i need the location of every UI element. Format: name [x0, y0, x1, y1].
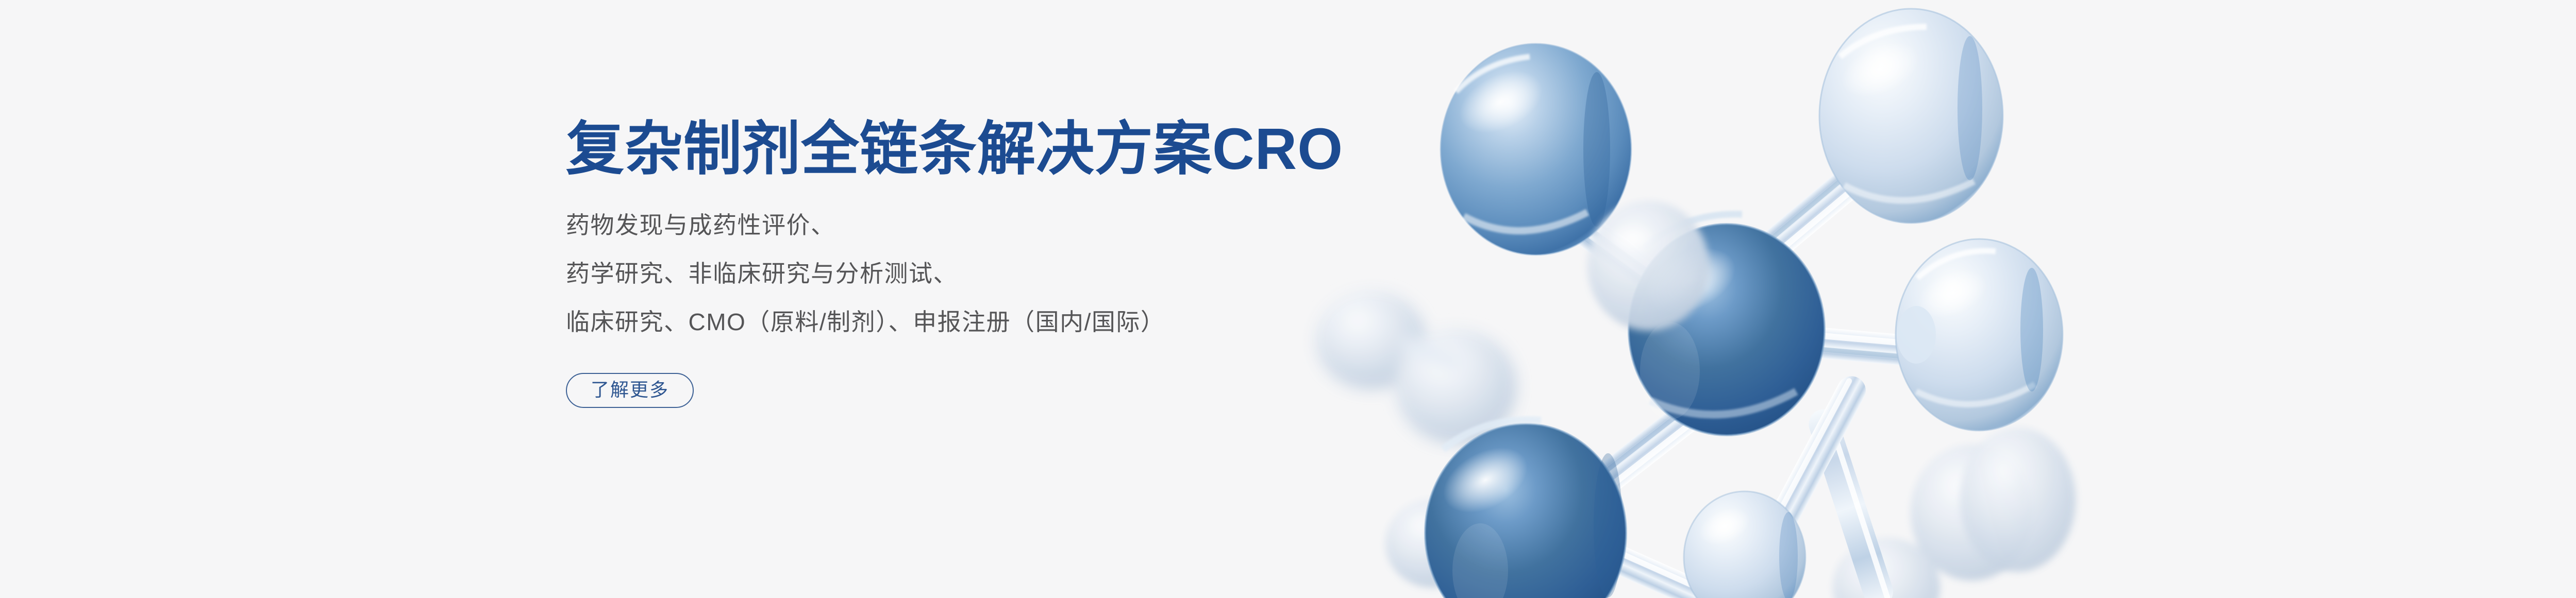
atom-sphere-top-left — [1441, 44, 1631, 255]
subtitle-line: 临床研究、CMO（原料/制剂）、申报注册（国内/国际） — [566, 310, 1391, 334]
page-title: 复杂制剂全链条解决方案CRO — [566, 117, 1391, 180]
atom-sphere-pale-right — [1960, 428, 2076, 572]
atom-sphere-right — [1896, 239, 2063, 431]
hero-copy-block: 复杂制剂全链条解决方案CRO 药物发现与成药性评价、 药学研究、非临床研究与分析… — [566, 117, 1391, 408]
learn-more-button[interactable]: 了解更多 — [566, 373, 694, 408]
atom-sphere-lower-left — [1425, 420, 1626, 598]
atom-sphere-center — [1629, 214, 1825, 435]
hero-banner: 复杂制剂全链条解决方案CRO 药物发现与成药性评价、 药学研究、非临床研究与分析… — [0, 0, 2576, 598]
glass-molecule-illustration — [1278, 0, 2113, 598]
atom-sphere-pale-left — [1587, 201, 1709, 331]
atom-sphere-top-right — [1819, 9, 2003, 223]
subtitle-line: 药学研究、非临床研究与分析测试、 — [566, 262, 1391, 285]
atom-sphere-bottom-node — [1684, 491, 1805, 598]
subtitle-line: 药物发现与成药性评价、 — [566, 213, 1391, 237]
hero-subtitle-list: 药物发现与成药性评价、 药学研究、非临床研究与分析测试、 临床研究、CMO（原料… — [566, 213, 1391, 334]
